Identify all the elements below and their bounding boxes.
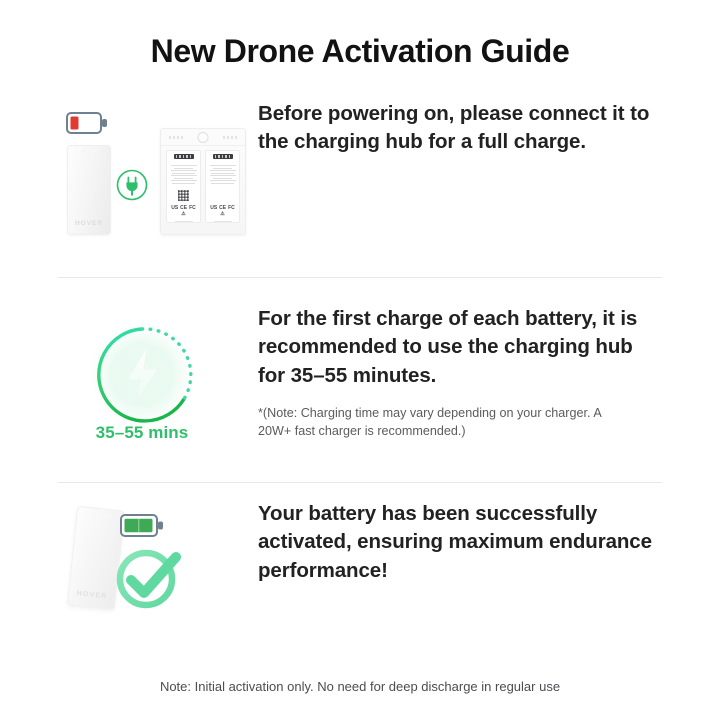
hub-led-indicator: [198, 132, 209, 143]
pack-brand-label: HOVER: [69, 589, 115, 601]
step-activated-illustration: HOVER: [58, 500, 258, 640]
battery-connector: [213, 154, 233, 159]
pack-brand-label: HOVER: [68, 220, 110, 227]
section-divider: [58, 277, 662, 278]
hub-slot-battery: USCEFC⚠: [166, 150, 201, 223]
qr-code-icon: [178, 190, 189, 201]
step-first-charge-note: *(Note: Charging time may vary depending…: [258, 404, 603, 441]
certification-marks: USCEFC⚠: [209, 206, 237, 217]
pack-notch: [91, 512, 109, 517]
low-battery-icon: [66, 112, 108, 134]
drone-battery-pack: HOVER: [67, 145, 111, 235]
step-first-charge-illustration: 35–55 mins: [58, 305, 258, 445]
charging-hub: USCEFC⚠ USCEFC⚠: [160, 128, 246, 235]
step-first-charge-section: 35–55 mins For the first charge of each …: [58, 305, 662, 445]
step-activated-headline: Your battery has been successfully activ…: [258, 500, 662, 585]
step-connect-section: HOVER: [58, 100, 662, 240]
check-circle-icon: [113, 540, 185, 612]
footer-note: Note: Initial activation only. No need f…: [0, 679, 720, 694]
activation-guide-page: New Drone Activation Guide HOVER: [0, 0, 720, 720]
step-first-charge-copy: For the first charge of each battery, it…: [258, 305, 662, 440]
battery-spec-label: [171, 165, 197, 185]
battery-spec-label: [210, 165, 236, 185]
charge-time-label: 35–55 mins: [58, 423, 226, 443]
section-divider: [58, 482, 662, 483]
hub-vent-right: [223, 136, 237, 139]
step-first-charge-headline: For the first charge of each battery, it…: [258, 305, 662, 390]
step-connect-copy: Before powering on, please connect it to…: [258, 100, 662, 157]
hub-slot-battery: USCEFC⚠: [205, 150, 240, 223]
certification-marks: USCEFC⚠: [170, 206, 198, 217]
step-activated-copy: Your battery has been successfully activ…: [258, 500, 662, 585]
pack-notch: [81, 149, 97, 152]
power-plug-icon: [115, 168, 149, 202]
step-connect-illustration: HOVER: [58, 100, 258, 240]
hub-vent-left: [169, 136, 183, 139]
hub-slots: USCEFC⚠ USCEFC⚠: [161, 146, 245, 229]
step-activated-section: HOVER Your battery has bee: [58, 500, 662, 640]
step-connect-headline: Before powering on, please connect it to…: [258, 100, 662, 157]
page-title: New Drone Activation Guide: [0, 33, 720, 70]
battery-connector: [174, 154, 194, 159]
label-footer-line: [175, 221, 193, 222]
charging-progress-ring: [80, 313, 204, 437]
label-footer-line: [214, 221, 232, 222]
full-battery-icon: [120, 514, 164, 537]
hub-top-bar: [161, 129, 245, 146]
